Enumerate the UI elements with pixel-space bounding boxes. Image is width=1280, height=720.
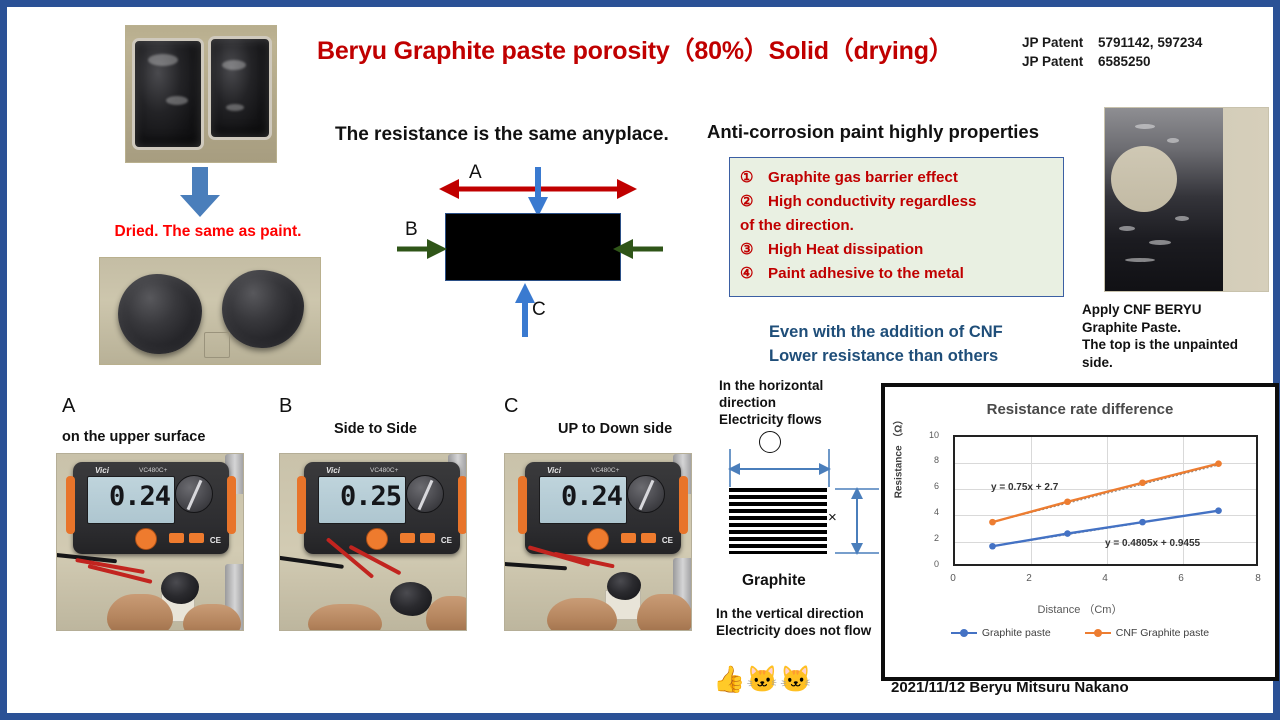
meter-button-r[interactable] (621, 533, 636, 543)
y-tick-label: 8 (909, 455, 939, 465)
cnf-note-line1: Even with the addition of CNF (769, 320, 1079, 344)
anti-item-number: ④ (740, 262, 768, 286)
page-title: Beryu Graphite paste porosity（80%）Solid（… (317, 31, 977, 67)
meter-reading-value: 0.24 (88, 481, 170, 512)
vertical-dimension-arrow (833, 485, 883, 557)
plate-hole (1111, 146, 1177, 212)
legend-item-cnf-graphite-paste: CNF Graphite paste (1085, 627, 1209, 639)
meter-lcd-display: 0.24 (539, 476, 627, 524)
measurement-sublabel-c: UP to Down side (558, 421, 672, 437)
chart-title: Resistance rate difference (885, 401, 1275, 418)
patent-label: JP Patent (1022, 52, 1098, 71)
anti-item: ①Graphite gas barrier effect (740, 166, 1053, 190)
dried-disk-right (222, 270, 304, 348)
cross-no-icon: × (828, 509, 837, 526)
slide-canvas: Beryu Graphite paste porosity（80%）Solid（… (0, 0, 1280, 720)
patent-number: 5791142, 597234 (1098, 33, 1202, 52)
graphite-layer-stripes (729, 488, 827, 554)
note-line: In the horizontal (719, 377, 823, 394)
x-tick-label: 4 (1093, 573, 1117, 584)
meter-lcd-display: 0.24 (87, 476, 175, 524)
cnf-note: Even with the addition of CNF Lower resi… (769, 320, 1079, 368)
diagram-label-b: B (405, 219, 418, 241)
bumper-right (227, 476, 236, 534)
meter-button-hold[interactable] (641, 533, 656, 543)
chart-annotation-cnf: y = 0.75x + 2.7 (991, 482, 1058, 493)
legend-swatch-blue (951, 632, 977, 635)
meter-brand: Vici (547, 466, 561, 475)
anti-corrosion-box: ①Graphite gas barrier effect ②High condu… (729, 157, 1064, 297)
measurement-letter-c: C (504, 395, 518, 418)
coating-speck (1119, 226, 1135, 231)
chart-y-axis-label: Resistance （Ω） (889, 415, 904, 499)
hand-left (547, 598, 617, 631)
measurement-sublabel-b: Side to Side (334, 421, 417, 437)
hand-right (426, 596, 467, 631)
anti-item-text: High Heat dissipation (768, 241, 923, 258)
graphite-sample (607, 572, 641, 600)
anti-item-text: Graphite gas barrier effect (768, 169, 958, 186)
patent-row: JP Patent 5791142, 597234 (1022, 33, 1202, 52)
probe-lead-black (279, 555, 344, 569)
bumper-left (297, 476, 306, 534)
graphite-label: Graphite (742, 572, 806, 590)
wire-loop (204, 332, 230, 358)
coating-speck (1125, 258, 1155, 262)
meter-rotary-dial[interactable] (406, 475, 444, 513)
meter-model: VC480C+ (370, 467, 398, 474)
measurement-sublabel-a: on the upper surface (62, 429, 205, 445)
y-tick-label: 2 (909, 533, 939, 543)
x-tick-label: 8 (1246, 573, 1270, 584)
graphite-sample (161, 572, 199, 604)
measurement-letter-a: A (62, 395, 75, 418)
bumper-left (518, 476, 527, 534)
meter-reading-value: 0.24 (540, 481, 622, 512)
anti-item-number: ③ (740, 238, 768, 262)
hand-right (183, 604, 241, 631)
anti-item-text: Paint adhesive to the metal (768, 265, 964, 282)
cnf-note-line2: Lower resistance than others (769, 344, 1079, 368)
anti-item: ②High conductivity regardless of the dir… (740, 190, 1053, 238)
container-right (208, 36, 272, 140)
arrow-green-right (613, 239, 663, 259)
ce-mark: CE (441, 536, 452, 545)
graphite-vertical-note: In the vertical direction Electricity do… (716, 605, 871, 639)
note-line: Electricity flows (719, 411, 823, 428)
meter-button-r[interactable] (400, 533, 415, 543)
horizontal-dimension-arrow (725, 447, 835, 489)
note-line: In the vertical direction (716, 605, 871, 622)
legend-label: Graphite paste (982, 627, 1051, 639)
probe-lead-black (504, 562, 567, 571)
meter-zero-adjust-knob[interactable] (587, 528, 609, 550)
hand-left (308, 604, 382, 631)
patent-list: JP Patent 5791142, 597234 JP Patent 6585… (1022, 33, 1202, 71)
patent-row: JP Patent 6585250 (1022, 52, 1202, 71)
anti-item-text: High conductivity regardless (768, 193, 976, 210)
highlight (148, 54, 178, 66)
bumper-right (679, 476, 688, 534)
chart-legend: Graphite paste CNF Graphite paste (885, 627, 1275, 639)
meter-button-r[interactable] (169, 533, 184, 543)
multimeter-body: Vici VC480C+ 0.24 CE (525, 462, 681, 554)
measurement-letter-b: B (279, 395, 292, 418)
y-tick-label: 4 (909, 507, 939, 517)
graphite-horizontal-note: In the horizontal direction Electricity … (719, 377, 823, 428)
legend-item-graphite-paste: Graphite paste (951, 627, 1051, 639)
anti-item-number: ① (740, 166, 768, 190)
multimeter-body: Vici VC480C+ 0.24 CE (73, 462, 229, 554)
hand-left (107, 594, 173, 631)
chart-plot-area: y = 0.75x + 2.7 y = 0.4805x + 0.9455 (953, 435, 1258, 566)
caption-line: The top is the unpainted (1082, 336, 1280, 354)
meter-rotary-dial[interactable] (627, 475, 665, 513)
resistance-chart-panel: Resistance rate difference Resistance （Ω… (881, 383, 1279, 681)
patent-number: 6585250 (1098, 52, 1151, 71)
y-tick-label: 0 (909, 559, 939, 569)
coating-speck (1175, 216, 1189, 221)
meter-model: VC480C+ (139, 467, 167, 474)
y-tick-label: 10 (909, 430, 939, 440)
caption-line: Apply CNF BERYU (1082, 301, 1280, 319)
dried-caption: Dried. The same as paint. (93, 223, 323, 241)
photo-wet-paste-containers (125, 25, 277, 163)
highlight (226, 104, 244, 111)
bumper-right (458, 476, 467, 534)
coating-speck (1167, 138, 1179, 143)
anti-item-continuation: of the direction. (740, 214, 1053, 238)
note-line: Electricity does not flow (716, 622, 871, 639)
bumper-left (66, 476, 75, 534)
footer-credit: 2021/11/12 Beryu Mitsuru Nakano (891, 679, 1129, 696)
meter-brand: Vici (326, 466, 340, 475)
anti-item-number: ② (740, 190, 768, 214)
legend-label: CNF Graphite paste (1116, 627, 1209, 639)
chart-x-axis-label: Distance （Cm） (885, 601, 1275, 617)
meter-button-hold[interactable] (420, 533, 435, 543)
meter-button-hold[interactable] (189, 533, 204, 543)
x-tick-label: 2 (1017, 573, 1041, 584)
photo-multimeter-b: Vici VC480C+ 0.25 CE (279, 453, 467, 631)
note-line: direction (719, 394, 823, 411)
resistance-headline: The resistance is the same anyplace. (335, 124, 669, 146)
graphite-sample (390, 582, 432, 616)
plate-photo-caption: Apply CNF BERYU Graphite Paste. The top … (1082, 301, 1280, 371)
anti-item: ③High Heat dissipation (740, 238, 1053, 262)
caption-line: side. (1082, 354, 1280, 372)
meter-brand: Vici (95, 466, 109, 475)
patent-label: JP Patent (1022, 33, 1098, 52)
arrow-b-green-left (397, 239, 447, 259)
highlight (222, 60, 246, 70)
ce-mark: CE (662, 536, 673, 545)
photo-multimeter-a: Vici VC480C+ 0.24 CE (56, 453, 244, 631)
legend-swatch-orange (1085, 632, 1111, 635)
x-tick-label: 0 (941, 573, 965, 584)
hand-right (637, 594, 692, 631)
meter-lcd-display: 0.25 (318, 476, 406, 524)
photo-coated-metal-plate (1104, 107, 1269, 292)
anti-item: ④Paint adhesive to the metal (740, 262, 1053, 286)
meter-zero-adjust-knob[interactable] (366, 528, 388, 550)
x-tick-label: 6 (1169, 573, 1193, 584)
coating-speck (1149, 240, 1171, 245)
highlight (166, 96, 188, 105)
footer-emoji-icons: 👍🐱🐱 (713, 665, 813, 693)
dried-disk-left (118, 274, 202, 354)
meter-zero-adjust-knob[interactable] (135, 528, 157, 550)
diagram-label-a: A (469, 162, 482, 184)
ce-mark: CE (210, 536, 221, 545)
diagram-label-c: C (532, 299, 546, 321)
chart-annotation-graphite: y = 0.4805x + 0.9455 (1105, 538, 1200, 549)
meter-rotary-dial[interactable] (175, 475, 213, 513)
anti-corrosion-title: Anti-corrosion paint highly properties (707, 121, 1039, 143)
caption-line: Graphite Paste. (1082, 319, 1280, 337)
y-tick-label: 6 (909, 481, 939, 491)
down-arrow-blue-icon (175, 167, 225, 219)
meter-reading-value: 0.25 (319, 481, 401, 512)
meter-model: VC480C+ (591, 467, 619, 474)
photo-multimeter-c: Vici VC480C+ 0.24 CE (504, 453, 692, 631)
photo-dried-paste-disks (99, 257, 321, 365)
coating-speck (1135, 124, 1155, 129)
